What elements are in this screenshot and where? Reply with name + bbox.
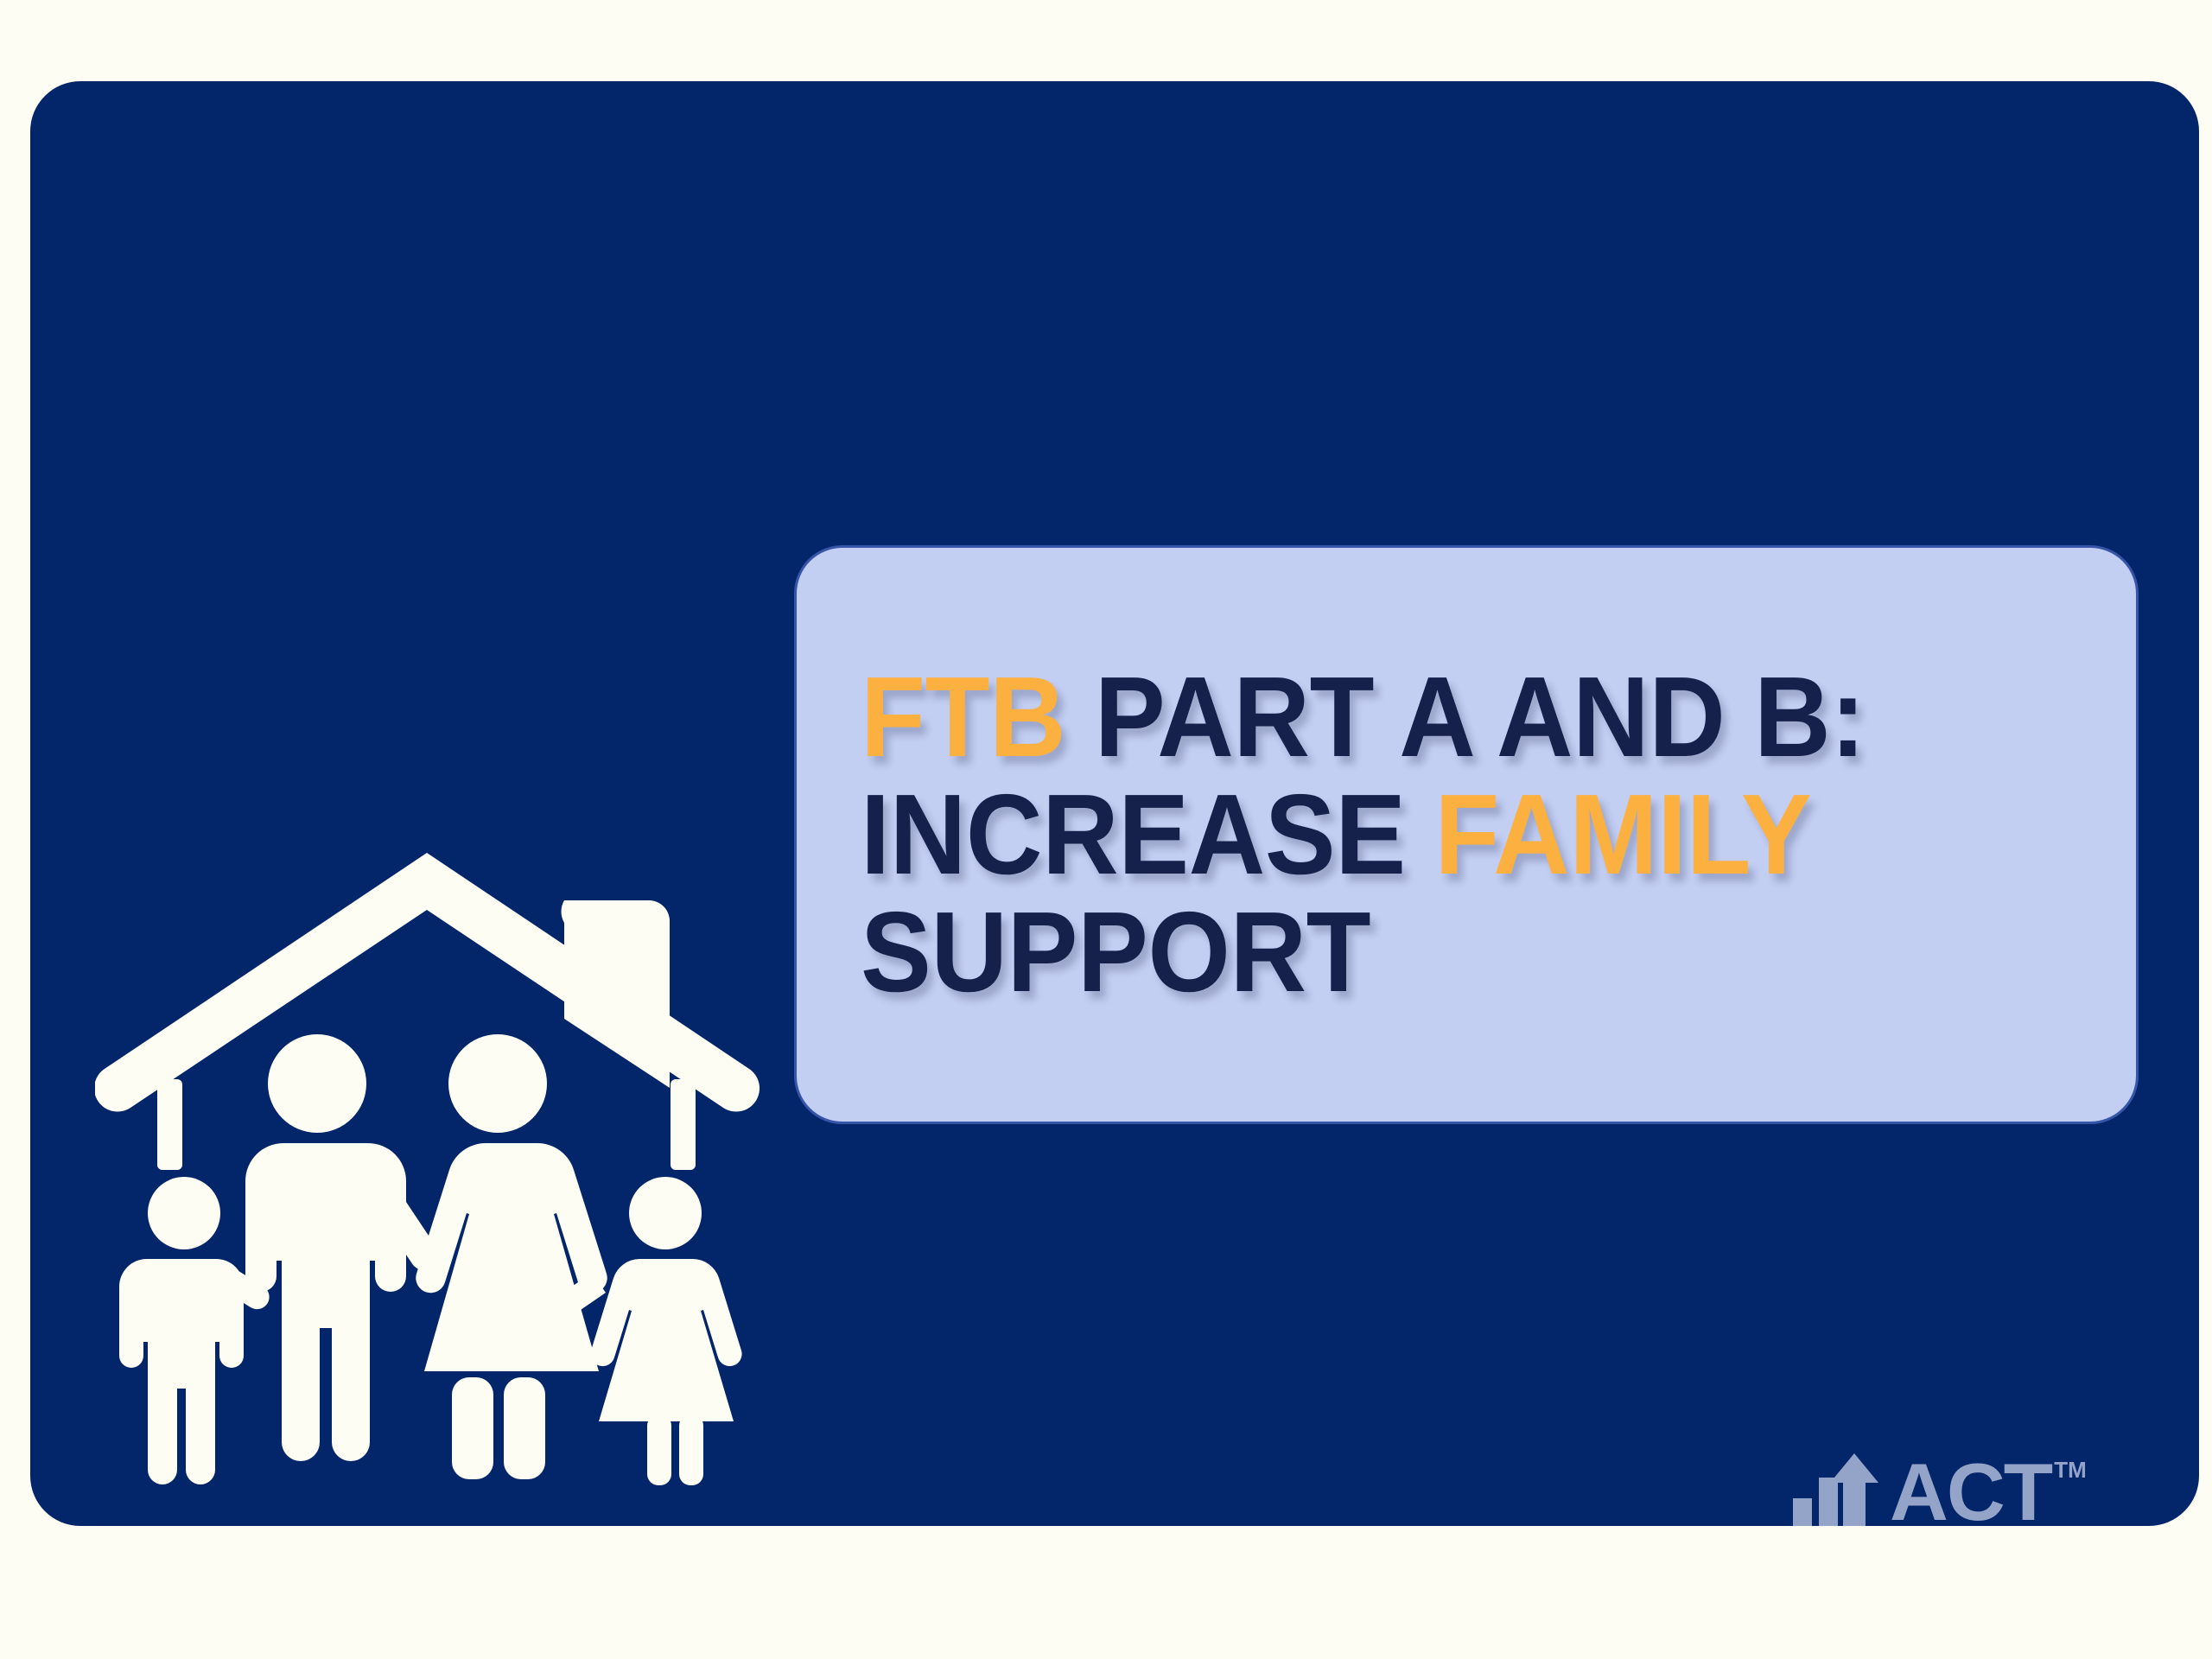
poster-canvas: FTB PART A AND B: INCREASE FAMILY SUPPOR… [0, 0, 2212, 1659]
headline-line-3: SUPPORT [861, 893, 2047, 1011]
headline-plain-3: SUPPORT [861, 888, 1370, 1015]
headline-plain-2: INCREASE [861, 771, 1434, 898]
logo-top-row: ACT TM [1791, 1453, 2154, 1526]
headline-accent-ftb: FTB [861, 653, 1065, 780]
act-tax-group-logo: ACT TM TAX GROUP [1791, 1453, 2154, 1526]
logo-wordmark: ACT [1890, 1453, 2051, 1526]
headline-accent-family: FAMILY [1434, 771, 1811, 898]
trademark-symbol: TM [2054, 1459, 2087, 1481]
headline-plain-1: PART A AND B: [1065, 653, 1865, 780]
headline-line-2: INCREASE FAMILY [861, 776, 2047, 893]
headline-panel: FTB PART A AND B: INCREASE FAMILY SUPPOR… [794, 545, 2139, 1124]
page-title: FTB PART A AND B: INCREASE FAMILY SUPPOR… [861, 658, 2047, 1011]
family-under-house-roof-icon [95, 820, 769, 1494]
headline-line-1: FTB PART A AND B: [861, 658, 2047, 776]
navy-card: FTB PART A AND B: INCREASE FAMILY SUPPOR… [30, 81, 2199, 1526]
ascending-bar-chart-arrow-icon [1791, 1453, 1893, 1526]
